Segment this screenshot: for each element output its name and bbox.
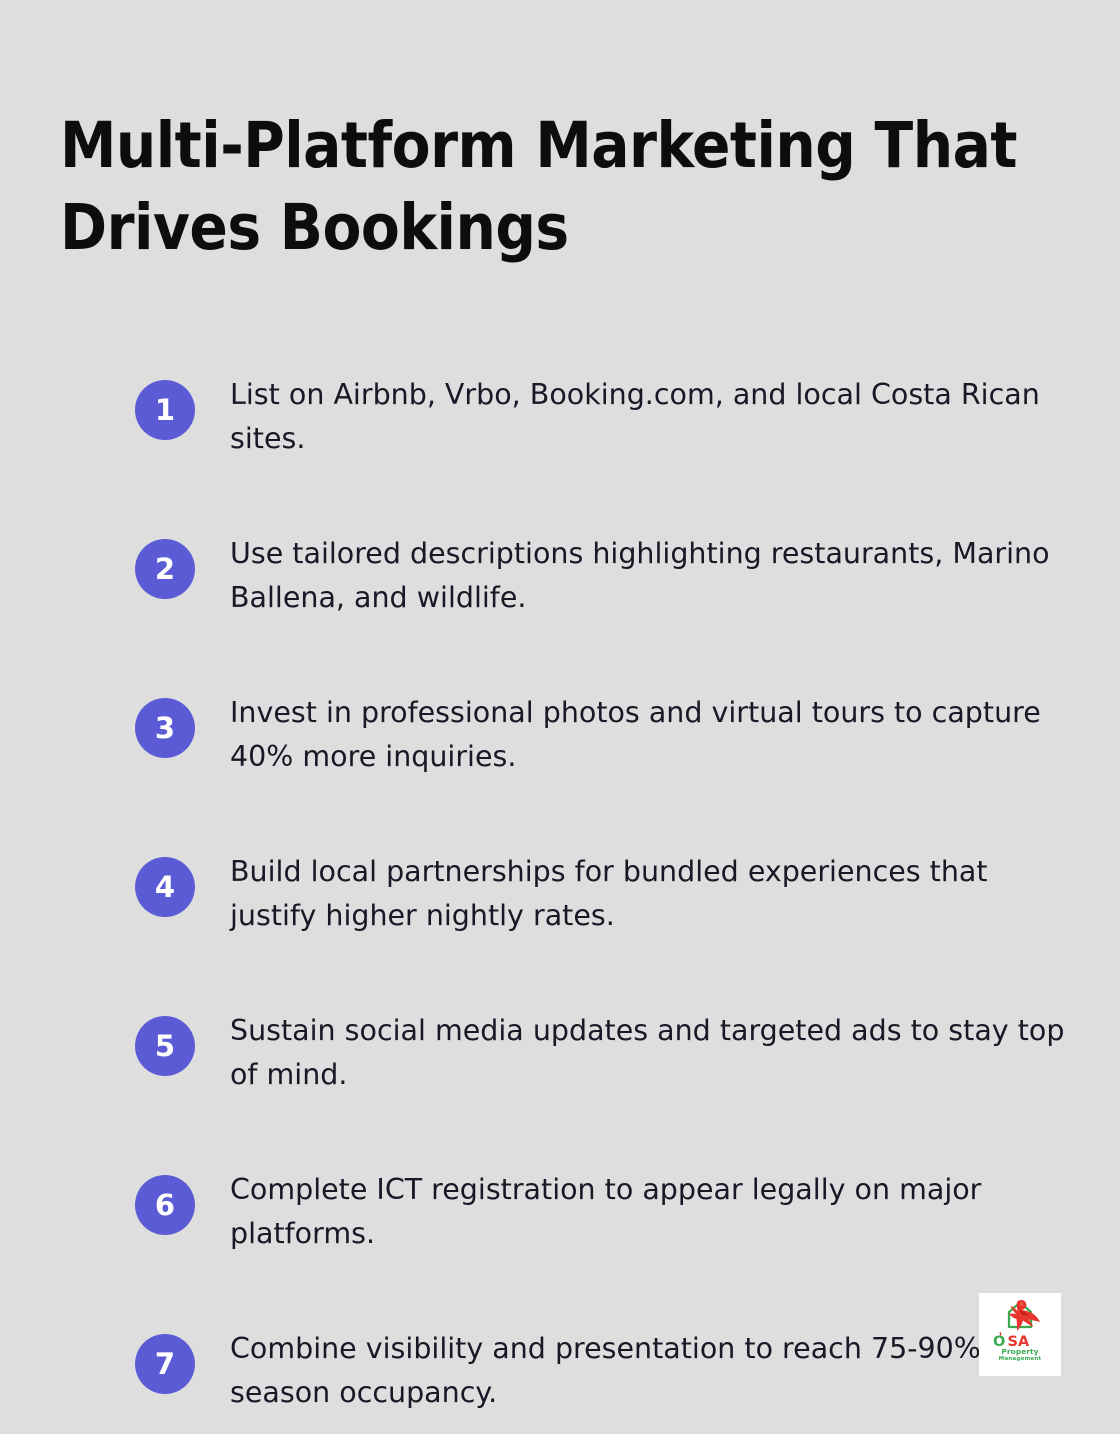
step-number-badge: 7 (135, 1334, 195, 1394)
step-number-badge: 6 (135, 1175, 195, 1235)
step-text: Invest in professional photos and virtua… (230, 689, 1065, 779)
step-text: Use tailored descriptions highlighting r… (230, 530, 1065, 620)
step-text: Build local partnerships for bundled exp… (230, 848, 1065, 938)
step-text: List on Airbnb, Vrbo, Booking.com, and l… (230, 371, 1065, 461)
logo-tagline-line-2: Management (999, 1356, 1042, 1363)
step-text: Complete ICT registration to appear lega… (230, 1166, 1065, 1256)
page-title: Multi-Platform Marketing That Drives Boo… (60, 105, 1060, 269)
logo-tagline-line-1: Property (1001, 1348, 1038, 1356)
numbered-steps-list: 1 List on Airbnb, Vrbo, Booking.com, and… (135, 371, 1065, 1415)
list-item: 5 Sustain social media updates and targe… (135, 1007, 1065, 1097)
title-block: Multi-Platform Marketing That Drives Boo… (60, 105, 1060, 269)
list-item: 3 Invest in professional photos and virt… (135, 689, 1065, 779)
list-item: 4 Build local partnerships for bundled e… (135, 848, 1065, 938)
list-item: 6 Complete ICT registration to appear le… (135, 1166, 1065, 1256)
macaw-bird-over-house-icon (997, 1298, 1043, 1332)
step-number-badge: 1 (135, 380, 195, 440)
step-number-badge: 5 (135, 1016, 195, 1076)
svg-text:SA: SA (1008, 1334, 1030, 1348)
step-text: Combine visibility and presentation to r… (230, 1325, 1065, 1415)
list-item: 2 Use tailored descriptions highlighting… (135, 530, 1065, 620)
step-number-badge: 3 (135, 698, 195, 758)
list-item: 1 List on Airbnb, Vrbo, Booking.com, and… (135, 371, 1065, 461)
brand-logo: O SA Property Management (979, 1293, 1061, 1376)
step-text: Sustain social media updates and targete… (230, 1007, 1065, 1097)
osa-wordmark-icon: O SA (991, 1332, 1049, 1348)
step-number-badge: 2 (135, 539, 195, 599)
list-item: 7 Combine visibility and presentation to… (135, 1325, 1065, 1415)
svg-text:O: O (993, 1334, 1005, 1348)
infographic-canvas: Multi-Platform Marketing That Drives Boo… (0, 0, 1120, 1434)
step-number-badge: 4 (135, 857, 195, 917)
